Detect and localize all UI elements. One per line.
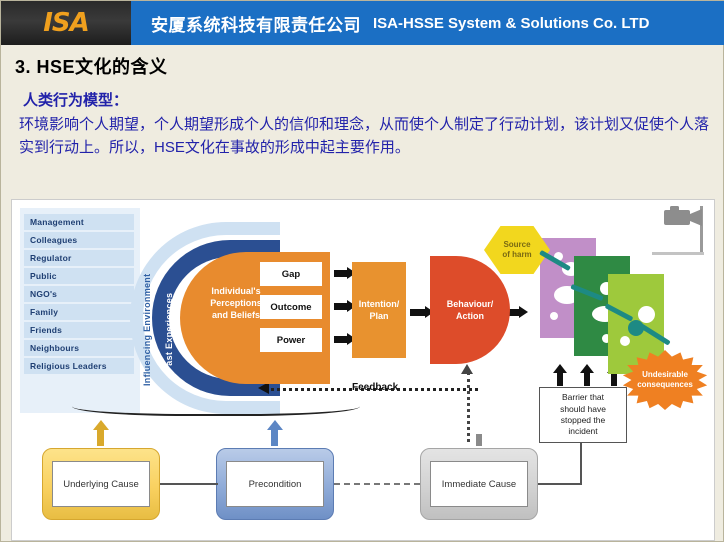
connector-underlying-precondition [160, 483, 218, 485]
list-item: Regulator [24, 250, 134, 266]
behaviour-line-1: Behaviour/ [447, 298, 494, 310]
page-title: 3. HSE文化的含义 [15, 53, 168, 79]
list-item: Friends [24, 322, 134, 338]
company-name-en: ISA-HSSE System & Solutions Co. LTD [373, 15, 649, 32]
behaviour-action-shape: Behaviour/ Action [430, 256, 510, 364]
list-item: Public [24, 268, 134, 284]
immediate-cause-label: Immediate Cause [430, 461, 527, 507]
harm-line-2: of harm [502, 250, 531, 260]
connector-barrier-vertical [580, 443, 582, 484]
barrier-hole [620, 336, 630, 346]
company-name-cn: 安厦系统科技有限责任公司 [151, 11, 361, 36]
logo-area: ISA [1, 1, 131, 45]
barrier-note-box: Barrier that should have stopped the inc… [539, 387, 627, 443]
slide-header: ISA 安厦系统科技有限责任公司 ISA-HSSE System & Solut… [1, 1, 724, 45]
connector-precondition-immediate [334, 483, 420, 485]
precondition-box[interactable]: Precondition [216, 448, 334, 520]
feedback-curve [72, 392, 360, 416]
list-item: Neighbours [24, 340, 134, 356]
immediate-cause-riser [467, 372, 470, 442]
influencer-list: Management Colleagues Regulator Public N… [24, 214, 134, 376]
barrier-line-3: stopped the [560, 415, 606, 426]
gap-box: Gap [260, 262, 322, 286]
list-item: Colleagues [24, 232, 134, 248]
underlying-cause-label: Underlying Cause [52, 461, 149, 507]
video-camera-icon [664, 206, 704, 228]
arrow-up-barrier-2 [584, 372, 590, 386]
immediate-cause-riser-head [461, 364, 473, 374]
list-item: NGO's [24, 286, 134, 302]
undesirable-line-2: consequences [637, 380, 693, 390]
harm-line-1: Source [502, 240, 531, 250]
past-experiences-label: Past Experiences [164, 252, 174, 372]
behaviour-line-2: Action [447, 310, 494, 322]
intention-line-2: Plan [359, 310, 400, 322]
list-item: Family [24, 304, 134, 320]
barrier-line-4: incident [560, 426, 606, 437]
isa-logo: ISA [43, 8, 89, 38]
list-item: Management [24, 214, 134, 230]
influencing-environment-label: Influencing Environment [142, 236, 152, 386]
immediate-cause-box[interactable]: Immediate Cause [420, 448, 538, 520]
arrow-up-underlying [97, 428, 104, 446]
arrow-up-barrier-3 [611, 372, 617, 386]
barrier-line-1: Barrier that [560, 392, 606, 403]
arrow-power-to-intention [334, 336, 348, 343]
body-paragraph: 环境影响个人期望，个人期望形成个人的信仰和理念，从而使个人制定了行动计划，该计划… [19, 113, 709, 160]
list-item: Religious Leaders [24, 358, 134, 374]
power-box: Power [260, 328, 322, 352]
undesirable-line-1: Undesirable [637, 370, 693, 380]
camera-base [652, 252, 704, 255]
intention-line-1: Intention/ [359, 298, 400, 310]
outcome-box: Outcome [260, 295, 322, 319]
header-title-bar: 安厦系统科技有限责任公司 ISA-HSSE System & Solutions… [131, 1, 724, 45]
arrow-up-barrier-1 [557, 372, 563, 386]
connector-immediate-barrier [538, 483, 582, 485]
barrier-line-2: should have [560, 404, 606, 415]
human-behaviour-model-diagram: Management Colleagues Regulator Public N… [11, 199, 715, 541]
arrow-outcome-to-intention [334, 303, 348, 310]
underlying-cause-box[interactable]: Underlying Cause [42, 448, 160, 520]
arrow-up-immediate [476, 434, 482, 446]
section-subtitle: 人类行为模型： [23, 89, 128, 110]
arrow-up-precondition [271, 428, 278, 446]
arrow-gap-to-intention [334, 270, 348, 277]
precondition-label: Precondition [226, 461, 323, 507]
barrier-hole [550, 312, 558, 320]
slide: ISA 安厦系统科技有限责任公司 ISA-HSSE System & Solut… [0, 0, 724, 542]
intention-plan-box: Intention/ Plan [352, 262, 406, 358]
arrow-intention-to-behaviour [410, 309, 426, 316]
